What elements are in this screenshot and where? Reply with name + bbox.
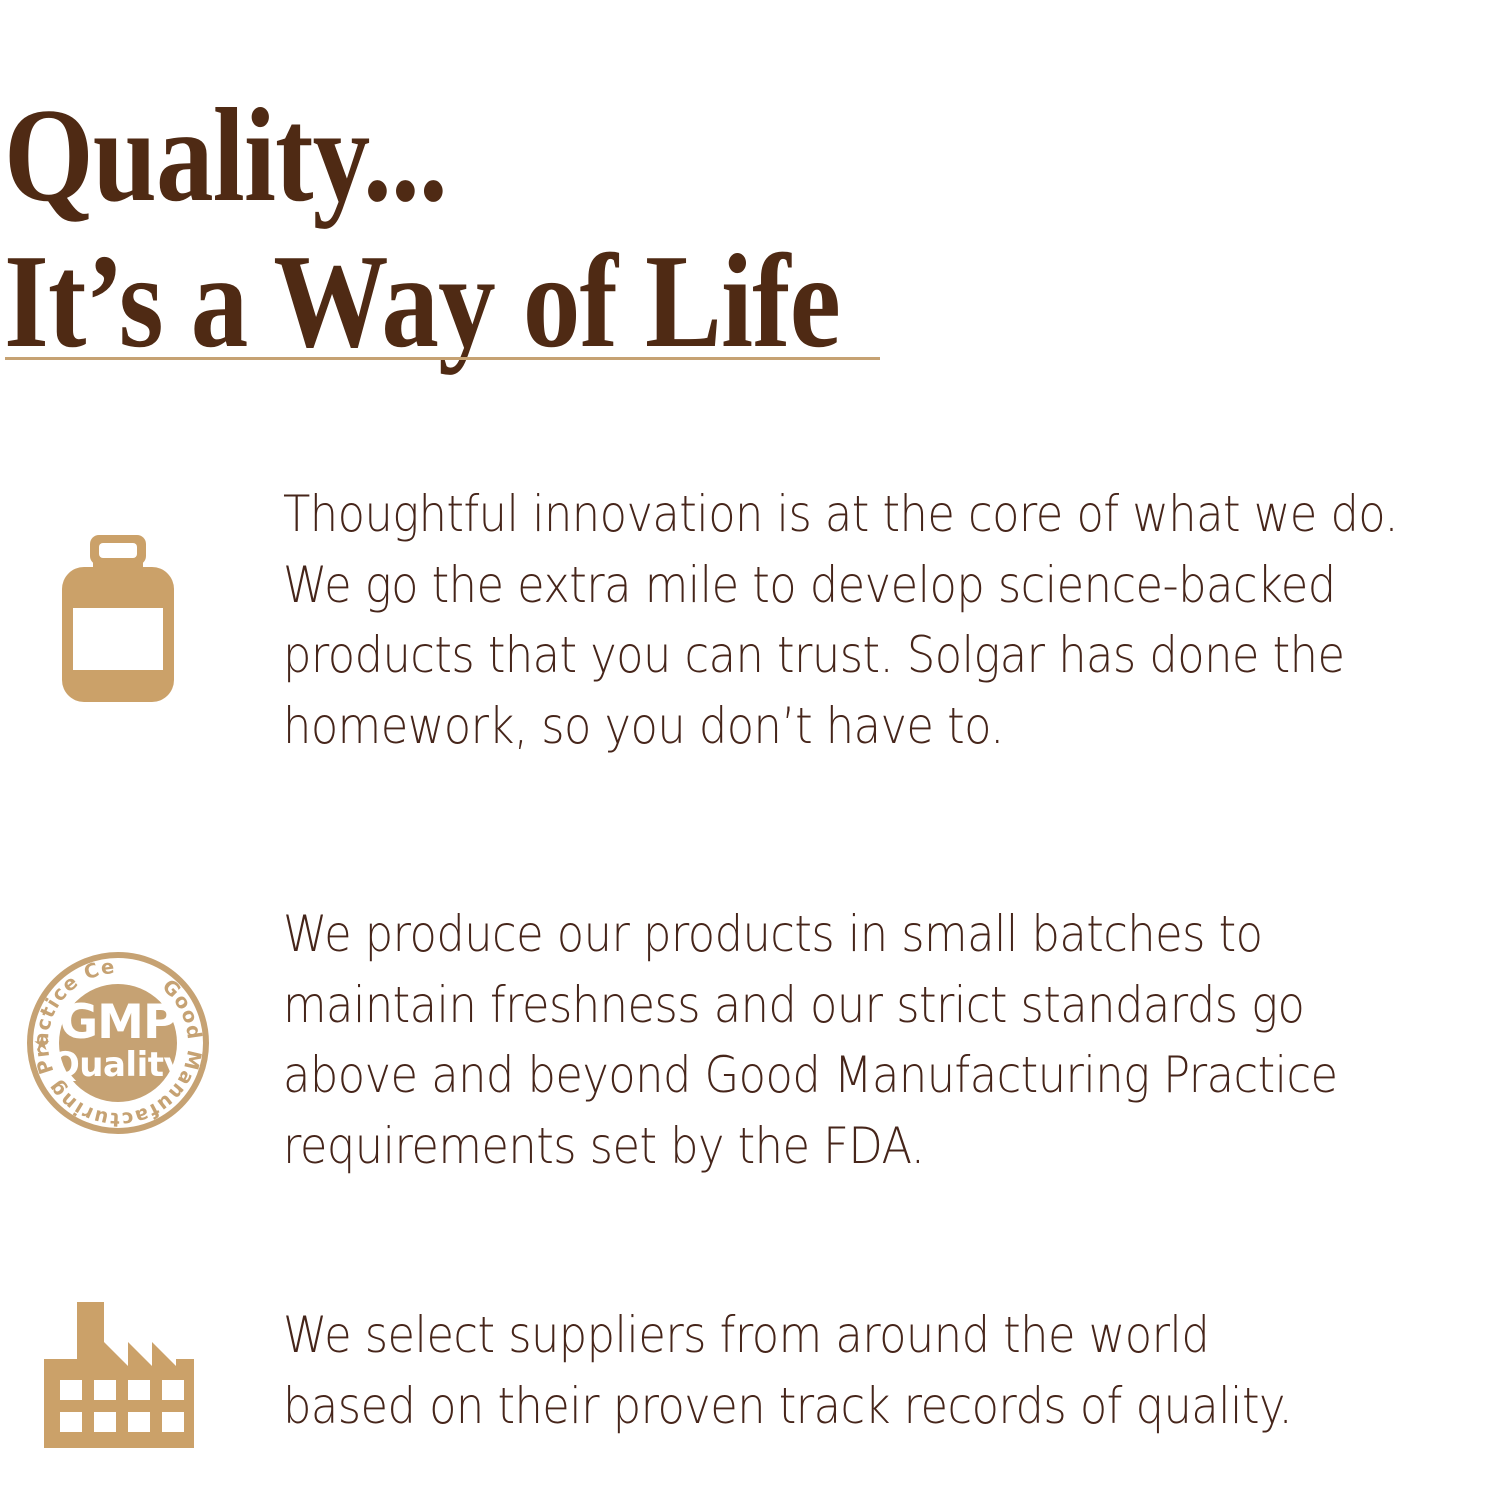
feature-text-gmp: We produce our products in small batches… <box>283 899 1357 1181</box>
text-line: We produce our products in small batches… <box>283 899 1357 970</box>
gmp-star-separator: ★ <box>33 1032 52 1055</box>
divider-rule <box>5 357 880 360</box>
quality-page: Quality... It’s a Way of Life <box>0 0 1500 1467</box>
text-line: Thoughtful innovation is at the core of … <box>283 479 1357 550</box>
text-line: based on their proven track records of q… <box>283 1371 1357 1442</box>
text-line: maintain freshness and our strict standa… <box>283 970 1357 1041</box>
feature-icon-container <box>0 479 240 679</box>
feature-icon-container: Good Manufacturing Practice Certificatio… <box>0 899 240 1099</box>
factory-icon <box>44 1302 194 1453</box>
supplement-bottle-icon <box>62 535 174 707</box>
gmp-quality-seal-icon: Good Manufacturing Practice Certificatio… <box>27 952 209 1139</box>
gmp-center-secondary: Quality <box>51 1045 186 1085</box>
text-line: We select suppliers from around the worl… <box>283 1300 1357 1371</box>
text-line: homework, so you don’t have to. <box>283 691 1357 762</box>
page-title-line-2: It’s a Way of Life <box>4 228 1122 374</box>
text-line: products that you can trust. Solgar has … <box>283 620 1357 691</box>
feature-text-suppliers: We select suppliers from around the worl… <box>283 1300 1357 1441</box>
feature-text-innovation: Thoughtful innovation is at the core of … <box>283 479 1357 761</box>
page-title: Quality... It’s a Way of Life <box>4 82 1122 374</box>
text-line: above and beyond Good Manufacturing Prac… <box>283 1040 1357 1111</box>
gmp-center-primary: GMP <box>60 995 177 1050</box>
page-title-line-1: Quality... <box>4 82 1122 228</box>
text-line: requirements set by the FDA. <box>283 1111 1357 1182</box>
feature-icon-container <box>0 1300 240 1500</box>
text-line: We go the extra mile to develop science-… <box>283 550 1357 621</box>
